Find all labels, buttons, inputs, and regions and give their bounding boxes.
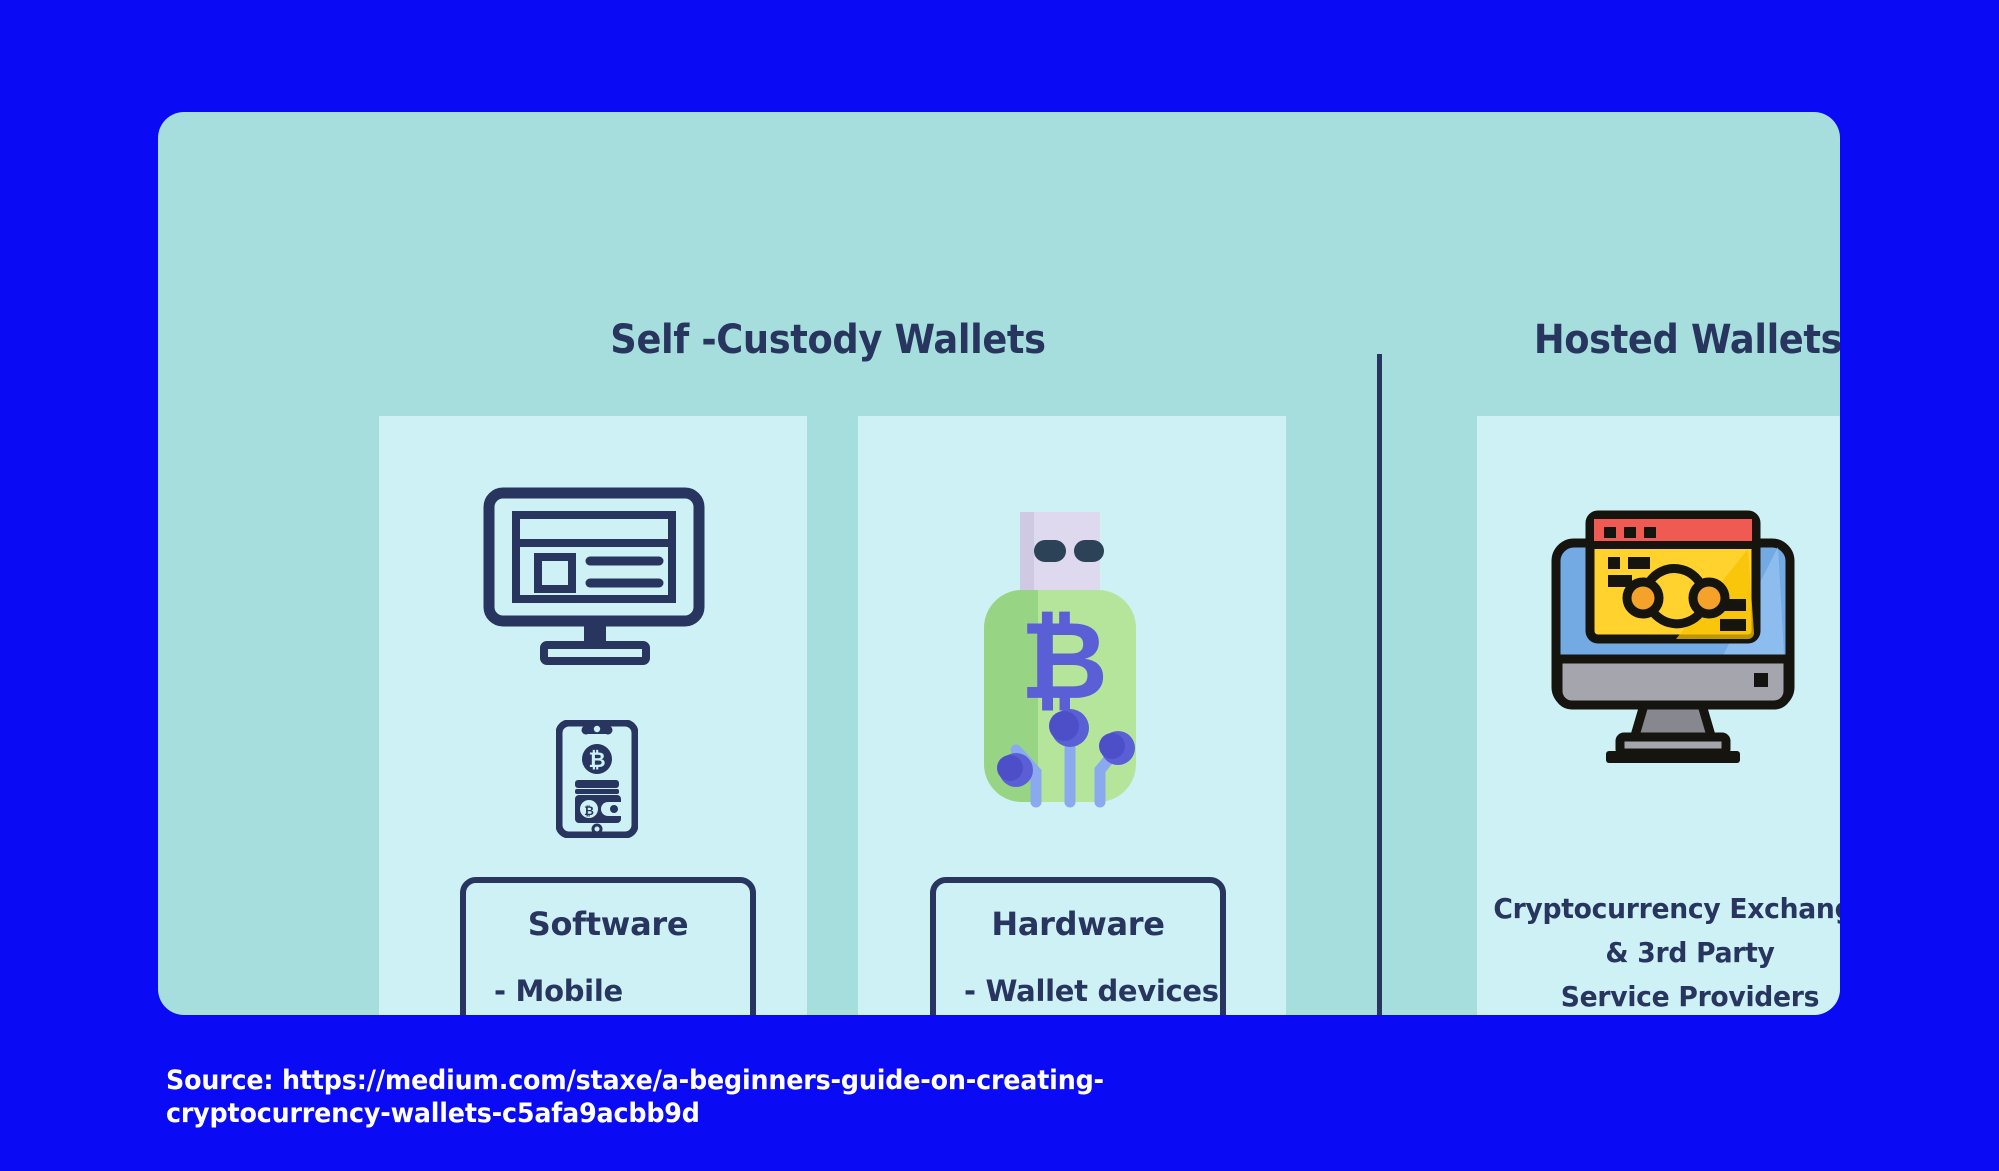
hosted-exchange-monitor-icon: [1548, 499, 1798, 771]
list-item: - Paper wallets: [964, 1013, 1220, 1015]
hardware-card: Hardware - Wallet devices - Paper wallet…: [930, 877, 1226, 1015]
svg-text:₿: ₿: [588, 748, 605, 772]
usb-hardware-wallet-icon: ₿: [976, 512, 1144, 816]
software-card-list: - Mobile - Browser - Desktop: [494, 969, 750, 1015]
hosted-line: Cryptocurrency Exchanges: [1488, 887, 1840, 931]
list-item: - Browser: [494, 1013, 750, 1015]
diagram-panel: Self -Custody Wallets Hosted Wallets ₿: [158, 112, 1840, 1015]
svg-text:₿: ₿: [584, 804, 594, 818]
hardware-card-title: Hardware: [936, 905, 1220, 943]
section-divider: [1377, 354, 1382, 1015]
source-caption: Source: https://medium.com/staxe/a-begin…: [166, 1064, 1294, 1130]
list-item: - Wallet devices: [964, 969, 1220, 1013]
hosted-line: Service Providers: [1488, 975, 1840, 1015]
desktop-monitor-icon: [483, 487, 705, 671]
hosted-line: & 3rd Party: [1488, 931, 1840, 975]
hardware-card-list: - Wallet devices - Paper wallets: [964, 969, 1220, 1015]
hosted-wallets-heading: Hosted Wallets: [1458, 317, 1840, 363]
software-card-title: Software: [466, 905, 750, 943]
software-card: Software - Mobile - Browser - Desktop: [460, 877, 756, 1015]
svg-text:₿: ₿: [1020, 599, 1108, 724]
mobile-wallet-icon: ₿ ₿: [556, 720, 638, 842]
self-custody-heading: Self -Custody Wallets: [414, 317, 1242, 363]
hosted-wallets-description: Cryptocurrency Exchanges & 3rd Party Ser…: [1477, 887, 1840, 1015]
list-item: - Mobile: [494, 969, 750, 1013]
